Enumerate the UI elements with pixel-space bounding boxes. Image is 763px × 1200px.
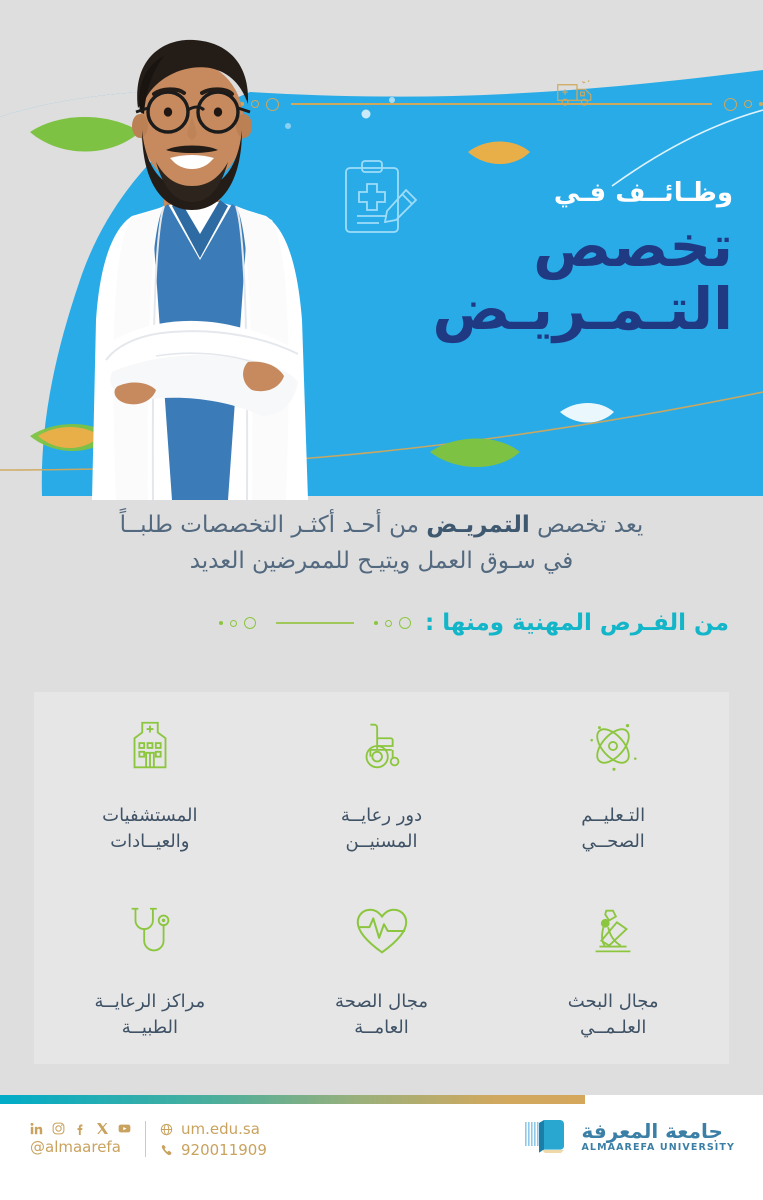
logo-text-block: جامعة المعرفة ALMAAREFA UNIVERSITY <box>581 1120 735 1153</box>
phone-icon <box>160 1144 173 1157</box>
opportunity-label: مجال الصحة العامــة <box>335 989 428 1041</box>
globe-icon <box>160 1123 173 1136</box>
headline-kicker: وظـائــف فـي <box>293 178 733 209</box>
green-dots-inner <box>374 617 411 629</box>
green-dot-small <box>374 621 378 625</box>
youtube-icon[interactable] <box>118 1122 131 1135</box>
body-line-1-highlight: التمريـض <box>426 512 530 538</box>
footer-divider <box>145 1121 146 1157</box>
footer-contact-block: @almaarefa um.edu.sa 920011909 <box>30 1121 267 1158</box>
opportunities-grid: التـعليــم الصحــي دور رعايــة <box>34 692 729 1064</box>
label-line-2: العامــة <box>335 1015 428 1041</box>
headline-line-1: تخصص <box>533 212 733 280</box>
headline-line-2: التـمـريـض <box>293 278 733 341</box>
label-line-1: مجال البحث <box>568 991 659 1012</box>
linkedin-icon[interactable] <box>30 1122 43 1135</box>
social-icons-row <box>30 1121 131 1136</box>
hospital-icon <box>119 715 181 777</box>
opportunity-card-health-education[interactable]: التـعليــم الصحــي <box>497 692 729 878</box>
body-line-1-suffix: من أحـد أكثـر التخصصات طلبــاً <box>120 512 427 538</box>
label-line-2: الطبيــة <box>95 1015 206 1041</box>
university-logo: جامعة المعرفة ALMAAREFA UNIVERSITY <box>524 1117 735 1155</box>
website-row[interactable]: um.edu.sa <box>160 1121 267 1137</box>
body-line-1-prefix: يعد تخصص <box>530 512 644 538</box>
microscope-icon <box>582 901 644 963</box>
opportunity-label: التـعليــم الصحــي <box>581 803 645 855</box>
book-logo-icon <box>524 1117 570 1155</box>
opportunity-card-scientific-research[interactable]: مجال البحث العلـمــي <box>497 878 729 1064</box>
opportunity-card-public-health[interactable]: مجال الصحة العامــة <box>266 878 498 1064</box>
logo-english-name: ALMAAREFA UNIVERSITY <box>581 1142 735 1153</box>
opportunity-label: دور رعايــة المسنيــن <box>341 803 422 855</box>
body-line-2: في سـوق العمل ويتيـح للممرضين العديد <box>0 544 763 580</box>
social-column: @almaarefa <box>30 1121 131 1155</box>
website-text: um.edu.sa <box>181 1121 260 1137</box>
green-dot-medium <box>230 620 237 627</box>
phone-text: 920011909 <box>181 1142 267 1158</box>
wheelchair-icon <box>351 715 413 777</box>
hero-section: وظـائــف فـي تخصص التـمـريـض <box>0 0 763 500</box>
headline-block: وظـائــف فـي تخصص التـمـريـض <box>293 178 733 340</box>
opportunities-intro-row: من الفـرص المهنية ومنها : <box>0 610 763 636</box>
ambulance-icon <box>555 76 599 110</box>
green-rule-line <box>276 622 354 623</box>
opportunities-intro-text: من الفـرص المهنية ومنها : <box>425 610 729 636</box>
green-dots-outer <box>219 617 256 629</box>
facebook-icon[interactable] <box>74 1122 87 1135</box>
opportunity-card-medical-care-centers[interactable]: مراكز الرعايــة الطبيــة <box>34 878 266 1064</box>
label-line-1: مجال الصحة <box>335 991 428 1012</box>
green-dot-small <box>219 621 223 625</box>
green-dot-medium <box>385 620 392 627</box>
stethoscope-icon <box>119 901 181 963</box>
label-line-1: المستشفيات <box>102 805 197 826</box>
label-line-2: الصحــي <box>581 829 645 855</box>
opportunity-card-hospitals-clinics[interactable]: المستشفيات والعيــادات <box>34 692 266 878</box>
poster-root: وظـائــف فـي تخصص التـمـريـض يعد تخصص ال… <box>0 0 763 1200</box>
heart-pulse-icon <box>351 901 413 963</box>
footer-gradient-bar <box>0 1095 585 1104</box>
body-line-1: يعد تخصص التمريـض من أحـد أكثـر التخصصات… <box>0 508 763 544</box>
opportunity-card-elderly-care[interactable]: دور رعايــة المسنيــن <box>266 692 498 878</box>
instagram-icon[interactable] <box>52 1122 65 1135</box>
atom-icon <box>582 715 644 777</box>
phone-row[interactable]: 920011909 <box>160 1142 267 1158</box>
opportunities-panel: التـعليــم الصحــي دور رعايــة <box>34 692 729 1064</box>
label-line-1: التـعليــم <box>581 805 645 826</box>
social-handle[interactable]: @almaarefa <box>30 1140 131 1155</box>
opportunity-label: مجال البحث العلـمــي <box>568 989 659 1041</box>
opportunity-label: مراكز الرعايــة الطبيــة <box>95 989 206 1041</box>
headline-title: تخصص التـمـريـض <box>293 215 733 340</box>
footer-bar: @almaarefa um.edu.sa 920011909 <box>0 1095 763 1200</box>
label-line-2: والعيــادات <box>102 829 197 855</box>
contact-column: um.edu.sa 920011909 <box>160 1121 267 1158</box>
opportunity-label: المستشفيات والعيــادات <box>102 803 197 855</box>
x-twitter-icon[interactable] <box>96 1122 109 1135</box>
label-line-1: دور رعايــة <box>341 805 422 826</box>
green-dot-large <box>399 617 411 629</box>
label-line-2: المسنيــن <box>341 829 422 855</box>
label-line-2: العلـمــي <box>568 1015 659 1041</box>
logo-arabic-name: جامعة المعرفة <box>581 1120 722 1142</box>
body-text-block: يعد تخصص التمريـض من أحـد أكثـر التخصصات… <box>0 508 763 579</box>
green-dot-large <box>244 617 256 629</box>
label-line-1: مراكز الرعايــة <box>95 991 206 1012</box>
